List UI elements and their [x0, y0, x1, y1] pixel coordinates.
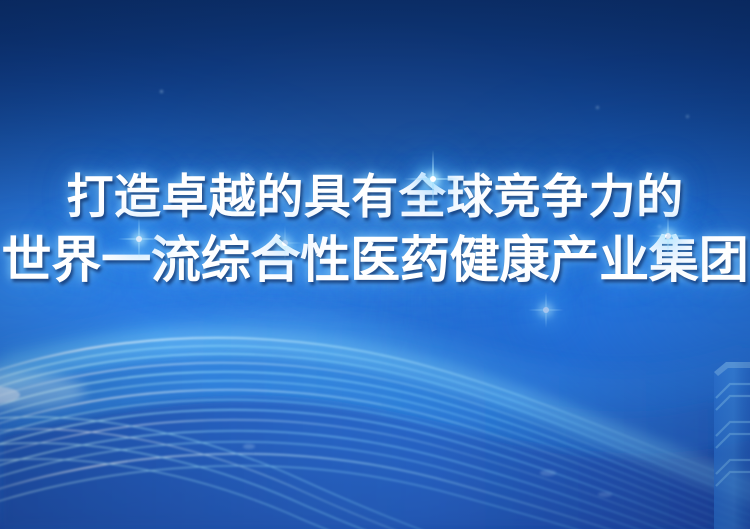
light-speck [160, 90, 163, 93]
light-speck [540, 470, 556, 476]
light-speck [686, 115, 689, 118]
headline-block: 打造卓越的具有全球竞争力的 世界一流综合性医药健康产业集团 [0, 168, 750, 292]
light-speck [598, 492, 612, 497]
headline-line-2: 世界一流综合性医药健康产业集团 [0, 228, 750, 292]
light-speck [596, 106, 599, 109]
vision-banner: 打造卓越的具有全球竞争力的 世界一流综合性医药健康产业集团 [0, 0, 750, 529]
light-speck [243, 444, 255, 449]
headline-line-1: 打造卓越的具有全球竞争力的 [0, 168, 750, 228]
